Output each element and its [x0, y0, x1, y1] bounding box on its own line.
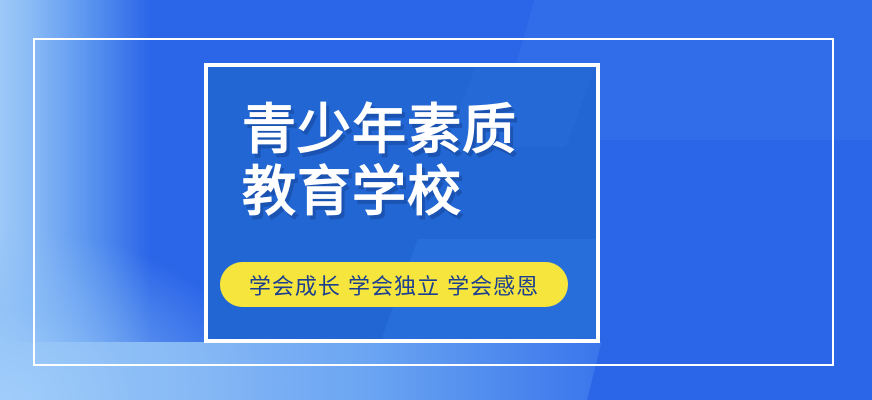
inner-content-card: 青少年素质 教育学校 学会成长 学会独立 学会感恩: [204, 63, 600, 343]
tagline-pill: 学会成长 学会独立 学会感恩: [220, 262, 568, 307]
background-diagonal-sliver: [587, 328, 735, 400]
background-bottom-strip: [0, 342, 872, 400]
card-content: 青少年素质 教育学校 学会成长 学会独立 学会感恩: [208, 67, 596, 339]
headline: 青少年素质 教育学校: [242, 99, 517, 223]
promo-banner: 青少年素质 教育学校 学会成长 学会独立 学会感恩: [0, 0, 872, 400]
headline-line-1: 青少年素质: [242, 99, 517, 161]
background-left-glow: [0, 0, 150, 400]
tagline-text: 学会成长 学会独立 学会感恩: [249, 269, 539, 301]
headline-line-2: 教育学校: [242, 161, 517, 223]
